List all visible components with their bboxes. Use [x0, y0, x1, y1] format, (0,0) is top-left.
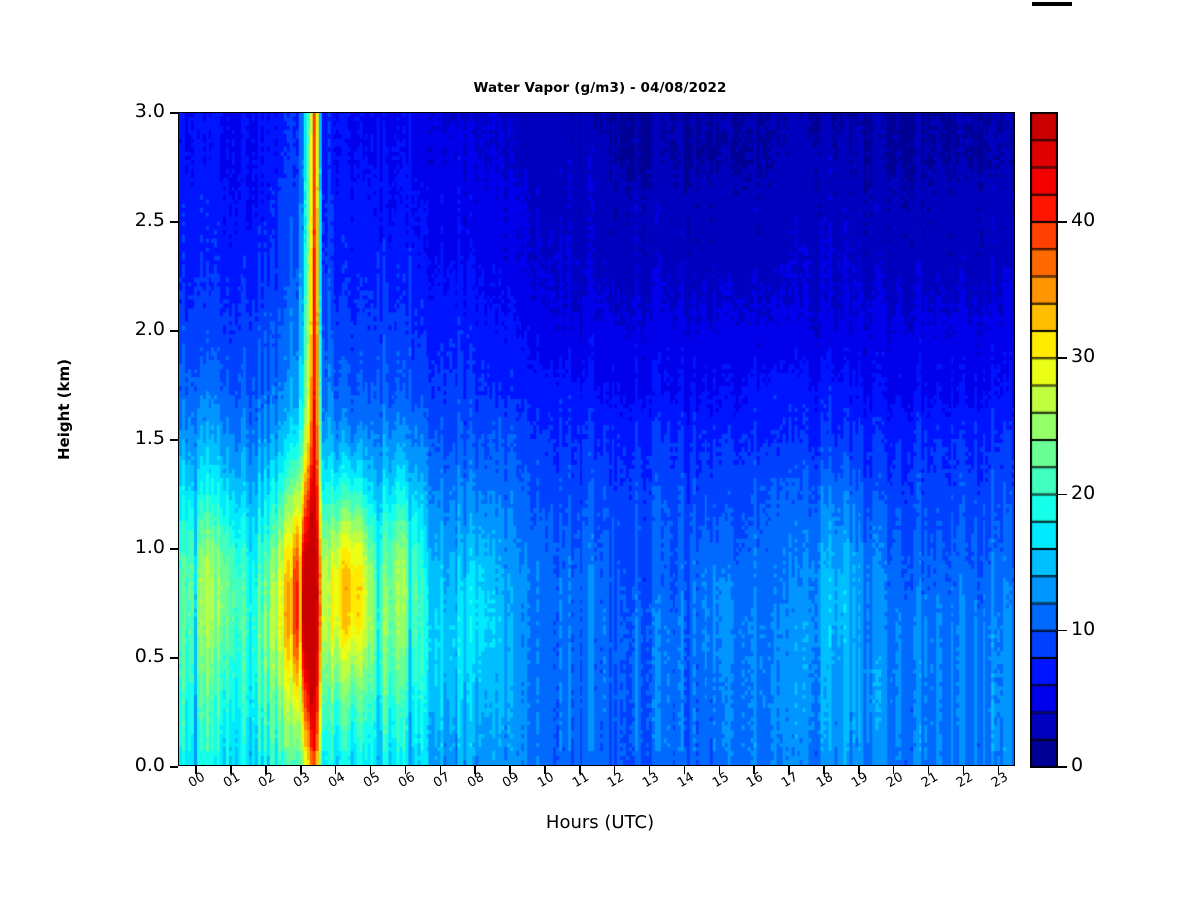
x-axis-tick-label: 07: [431, 770, 453, 791]
y-axis-tick: 2.5: [0, 221, 178, 222]
colorbar-tick-label: 20: [1071, 482, 1095, 504]
colorbar-tick-label: 10: [1071, 618, 1095, 640]
y-axis-tick: 0.0: [0, 766, 178, 767]
y-axis-tick-label: 1.5: [135, 427, 165, 449]
x-axis-tick-label: 08: [465, 770, 487, 791]
colorbar-tick-label: 30: [1071, 345, 1095, 367]
x-axis-tick-label: 11: [570, 770, 592, 791]
x-axis-tick-label: 22: [954, 770, 976, 791]
y-axis-label: Height (km): [55, 436, 73, 460]
x-axis-tick-label: 02: [256, 770, 278, 791]
y-axis-tick: 1.0: [0, 548, 178, 549]
y-axis-tick-mark: [170, 221, 178, 223]
y-axis-tick-label: 0.0: [135, 754, 165, 776]
y-axis-tick-mark: [170, 548, 178, 550]
y-axis-tick-mark: [170, 330, 178, 332]
y-axis: 0.00.51.01.52.02.53.0: [0, 112, 178, 766]
y-axis-tick-mark: [170, 112, 178, 114]
x-axis-tick-label: 00: [186, 770, 208, 791]
colorbar-tick-label: 40: [1071, 209, 1095, 231]
y-axis-tick: 2.0: [0, 330, 178, 331]
x-axis-tick-label: 20: [884, 770, 906, 791]
colorbar-tick-mark: [1058, 630, 1067, 632]
y-axis-tick-mark: [170, 657, 178, 659]
x-axis-tick-label: 18: [814, 770, 836, 791]
x-axis-tick-label: 10: [535, 770, 557, 791]
y-axis-tick-label: 2.5: [135, 209, 165, 231]
y-axis-tick-label: 2.0: [135, 318, 165, 340]
x-axis-tick-label: 04: [326, 770, 348, 791]
x-axis-tick-label: 14: [675, 770, 697, 791]
heatmap-image: [179, 113, 1014, 765]
colorbar-axis: 010203040: [1030, 112, 1150, 766]
colorbar-tick-mark: [1058, 357, 1067, 359]
chart-title: Water Vapor (g/m3) - 04/08/2022: [0, 80, 1200, 96]
colorbar-tick-mark: [1058, 494, 1067, 496]
x-axis-tick-label: 15: [710, 770, 732, 791]
y-axis-tick-mark: [170, 439, 178, 441]
x-axis-tick-label: 06: [396, 770, 418, 791]
x-axis-label: Hours (UTC): [0, 812, 1200, 833]
y-axis-tick-label: 0.5: [135, 645, 165, 667]
y-axis-tick: 1.5: [0, 439, 178, 440]
colorbar-tick-mark: [1058, 221, 1067, 223]
x-axis-tick-label: 21: [919, 770, 941, 791]
y-axis-tick: 3.0: [0, 112, 178, 113]
colorbar-tick-label: 0: [1071, 754, 1083, 776]
x-axis-tick-label: 19: [849, 770, 871, 791]
x-axis-tick-label: 05: [361, 770, 383, 791]
x-axis-tick-label: 16: [744, 770, 766, 791]
y-axis-tick-mark: [170, 766, 178, 768]
x-axis-tick-label: 09: [500, 770, 522, 791]
x-axis-tick-label: 03: [291, 770, 313, 791]
x-axis-tick-label: 23: [989, 770, 1011, 791]
y-axis-tick: 0.5: [0, 657, 178, 658]
x-axis-tick-label: 17: [779, 770, 801, 791]
y-axis-tick-label: 1.0: [135, 536, 165, 558]
x-axis-tick-label: 13: [640, 770, 662, 791]
heatmap-plot-area: [178, 112, 1015, 766]
x-axis-tick-label: 12: [605, 770, 627, 791]
top-edge-artifact: [1032, 2, 1072, 6]
colorbar-tick-mark: [1058, 766, 1067, 768]
x-axis-tick-label: 01: [221, 770, 243, 791]
y-axis-tick-label: 3.0: [135, 100, 165, 122]
x-axis: 0001020304050607080910111213141516171819…: [178, 766, 1015, 816]
